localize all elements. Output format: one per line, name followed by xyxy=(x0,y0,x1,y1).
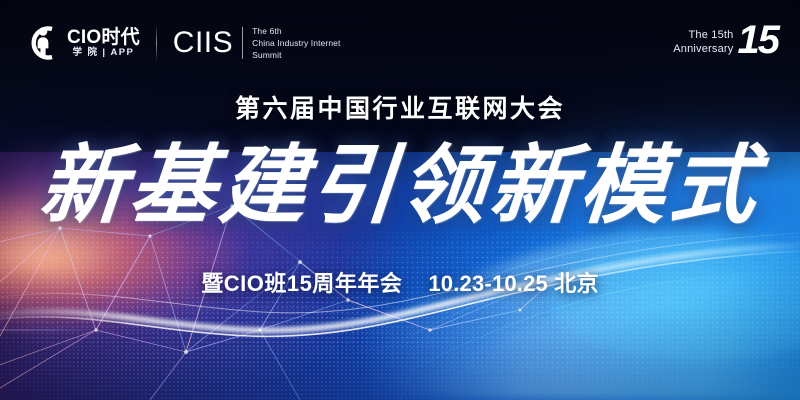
logo-divider xyxy=(156,25,157,61)
ciis-tagline-line-2: China Industry Internet xyxy=(252,38,340,48)
ciis-tagline-line-3: Summit xyxy=(252,50,340,60)
anniversary-line-2: Anniversary xyxy=(673,43,733,57)
ciis-wordmark: CIIS xyxy=(173,28,233,58)
subtitle-date: 10.23-10.25 北京 xyxy=(428,266,598,298)
ciis-tagline: The 6th China Industry Internet Summit xyxy=(252,26,340,60)
ciis-tagline-line-1: The 6th xyxy=(252,26,340,36)
cio-logo[interactable]: CIO时代 学 院 | APP xyxy=(26,25,140,61)
subtitle-row: 暨CIO班15周年年会 10.23-10.25 北京 xyxy=(0,266,800,298)
cio-wordmark: CIO时代 学 院 | APP xyxy=(67,28,140,58)
anniversary-text: The 15th Anniversary xyxy=(673,29,733,58)
anniversary-line-1: The 15th xyxy=(688,29,733,43)
cio-primary-text: CIO时代 xyxy=(67,28,140,47)
headline-slogan: 新基建引领新模式 xyxy=(0,140,800,233)
conference-title: 第六届中国行业互联网大会 xyxy=(0,97,800,122)
conference-banner: CIO时代 学 院 | APP CIIS The 6th China Indus… xyxy=(0,0,800,400)
anniversary-number: 15 xyxy=(738,23,779,57)
banner-header: CIO时代 学 院 | APP CIIS The 6th China Indus… xyxy=(0,0,800,86)
subtitle-event: 暨CIO班15周年年会 xyxy=(201,266,402,298)
ciis-divider xyxy=(242,27,243,59)
cio-secondary-text: 学 院 | APP xyxy=(67,48,140,58)
cio-person-logo-icon xyxy=(26,25,60,61)
anniversary-badge: The 15th Anniversary 15 xyxy=(673,23,778,63)
left-logo-group: CIO时代 学 院 | APP CIIS The 6th China Indus… xyxy=(26,25,340,61)
ciis-logo[interactable]: CIIS The 6th China Industry Internet Sum… xyxy=(173,26,341,60)
